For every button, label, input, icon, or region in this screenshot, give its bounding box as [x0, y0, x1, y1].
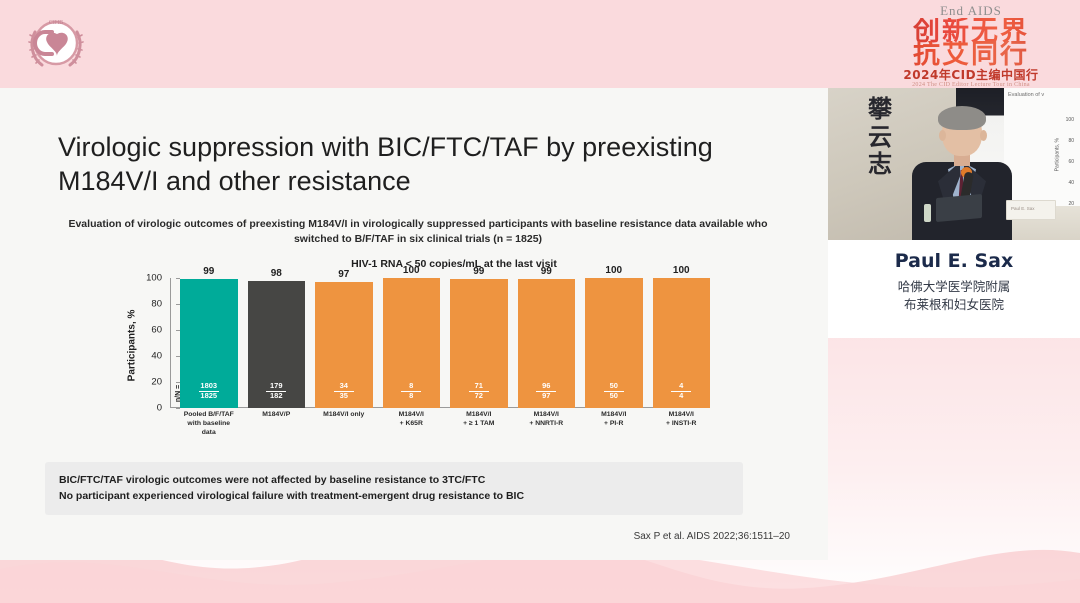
speaker-ear-left — [939, 130, 946, 141]
bar: 44 — [653, 278, 711, 408]
bar-fraction-label: 179182 — [248, 382, 306, 401]
slide-title: Virologic suppression with BIC/FTC/TAF b… — [58, 130, 778, 199]
video-axis-tick-40: 40 — [1068, 180, 1074, 186]
speaker-name: Paul E. Sax — [828, 250, 1080, 272]
bar-fraction-denominator: 50 — [585, 392, 643, 401]
video-nameplate: Paul E. Sax — [1006, 200, 1056, 220]
y-tick-40: 40 — [151, 351, 162, 362]
bar-column: 10088 — [383, 278, 441, 408]
bar: 7172 — [450, 279, 508, 408]
video-screen-text: Evaluation of v — [1008, 92, 1078, 98]
slide-citation: Sax P et al. AIDS 2022;36:1511–20 — [0, 531, 790, 542]
speaker-affiliation-line2: 布莱根和妇女医院 — [828, 296, 1080, 314]
x-axis-label-line: M184V/I — [383, 410, 441, 419]
x-axis-label-line: + PI-R — [585, 419, 643, 428]
bar-value-label: 98 — [248, 268, 306, 279]
bar-fraction-denominator: 182 — [248, 392, 306, 401]
event-brand-chinese-line3: 2024年CID主编中国行 — [876, 69, 1066, 81]
conclusion-callout: BIC/FTC/TAF virologic outcomes were not … — [45, 462, 743, 515]
x-axis-label-line: + NNRTI-R — [518, 419, 576, 428]
video-nameplate-text: Paul E. Sax — [1011, 206, 1035, 211]
bar: 88 — [383, 278, 441, 408]
x-axis-label-line: + K65R — [383, 419, 441, 428]
bar-value-label: 99 — [450, 266, 508, 277]
bar-fraction-denominator: 4 — [653, 392, 711, 401]
video-calligraphy-art: 攀 云 志 — [860, 96, 900, 206]
bar-fraction-label: 44 — [653, 382, 711, 401]
y-tick-60: 60 — [151, 325, 162, 336]
bar: 5050 — [585, 278, 643, 408]
bar-fraction-label: 18031825 — [180, 382, 238, 401]
speaker-affiliation: 哈佛大学医学院附属 布莱根和妇女医院 — [828, 278, 1080, 314]
bar-value-label: 99 — [180, 266, 238, 277]
bar-fraction-label: 9697 — [518, 382, 576, 401]
y-tickmark-0 — [176, 408, 180, 409]
callout-line-1: BIC/FTC/TAF virologic outcomes were not … — [59, 472, 729, 488]
bar-column: 999697 — [518, 278, 576, 408]
bar-value-label: 100 — [383, 265, 441, 276]
bar-value-label: 97 — [315, 269, 373, 280]
bar-column: 10044 — [653, 278, 711, 408]
x-axis-label: M184V/I+ NNRTI-R — [518, 410, 576, 438]
bar-column: 1005050 — [585, 278, 643, 408]
x-axis-label: M184V/I+ ≥ 1 TAM — [450, 410, 508, 438]
slide-subtitle: Evaluation of virologic outcomes of pree… — [60, 217, 776, 247]
bar-fraction-label: 88 — [383, 382, 441, 401]
y-axis-ticks: 020406080100 — [140, 278, 166, 408]
speaker-panel: 攀 云 志 Evaluation of v 100 80 60 40 20 0 … — [828, 88, 1080, 338]
bar-fraction-label: 5050 — [585, 382, 643, 401]
speaker-affiliation-line1: 哈佛大学医学院附属 — [828, 278, 1080, 296]
presentation-slide: Virologic suppression with BIC/FTC/TAF b… — [0, 88, 828, 560]
bar-value-label: 99 — [518, 266, 576, 277]
x-axis-label: Pooled B/F/TAFwith baseline data — [180, 410, 238, 438]
bar: 9697 — [518, 279, 576, 408]
video-axis-tick-60: 60 — [1068, 159, 1074, 165]
bar: 3435 — [315, 282, 373, 408]
video-water-bottle — [924, 204, 931, 222]
y-tick-100: 100 — [146, 273, 162, 284]
x-axis-label-line: M184V/I only — [315, 410, 373, 419]
speaker-ear-right — [980, 130, 987, 141]
y-axis-title: Participants, % — [124, 286, 140, 404]
x-axis-label-line: M184V/I — [450, 410, 508, 419]
bar-column: 997172 — [450, 278, 508, 408]
chart-plot-area: Participants, % 020406080100 n/N = 99180… — [130, 278, 710, 408]
y-tick-20: 20 — [151, 377, 162, 388]
bar-value-label: 100 — [585, 265, 643, 276]
callout-line-2: No participant experienced virological f… — [59, 488, 729, 504]
bar: 179182 — [248, 281, 306, 408]
bar-fraction-denominator: 97 — [518, 392, 576, 401]
bar-column: 9918031825 — [180, 278, 238, 408]
bar-column: 98179182 — [248, 278, 306, 408]
speaker-video-feed[interactable]: 攀 云 志 Evaluation of v 100 80 60 40 20 0 … — [828, 88, 1080, 240]
x-axis-label: M184V/I+ INSTI-R — [653, 410, 711, 438]
x-axis-label: M184V/I+ PI-R — [585, 410, 643, 438]
y-axis-line — [170, 278, 171, 408]
x-axis-label-line: + ≥ 1 TAM — [450, 419, 508, 428]
x-axis-label-line: with baseline data — [180, 419, 238, 437]
x-axis-label-line: M184V/I — [585, 410, 643, 419]
x-axis-label-line: + INSTI-R — [653, 419, 711, 428]
x-axis-label: M184V/I only — [315, 410, 373, 438]
video-axis-tick-100: 100 — [1066, 117, 1074, 123]
bar-fraction-denominator: 72 — [450, 392, 508, 401]
x-axis-labels: Pooled B/F/TAFwith baseline dataM184V/PM… — [180, 410, 710, 438]
bar-fraction-denominator: 8 — [383, 392, 441, 401]
bar-fraction-denominator: 35 — [315, 392, 373, 401]
bar-fraction-denominator: 1825 — [180, 392, 238, 401]
video-axis-tick-80: 80 — [1068, 138, 1074, 144]
x-axis-label: M184V/P — [248, 410, 306, 438]
x-axis-label: M184V/I+ K65R — [383, 410, 441, 438]
x-axis-label-line: M184V/I — [653, 410, 711, 419]
organization-logo-icon: CIHB — [24, 12, 88, 76]
bar-fraction-label: 7172 — [450, 382, 508, 401]
bar-value-label: 100 — [653, 265, 711, 276]
bar-chart: HIV-1 RNA < 50 copies/mL at the last vis… — [130, 258, 710, 438]
event-brand-chinese-line2: 抗艾同行 — [876, 41, 1066, 68]
bar-column: 973435 — [315, 278, 373, 408]
event-branding: End AIDS 创新无界 抗艾同行 2024年CID主编中国行 2024 Th… — [876, 2, 1066, 84]
bar: 18031825 — [180, 279, 238, 408]
y-tick-80: 80 — [151, 299, 162, 310]
video-laptop — [936, 194, 982, 222]
video-axis-label: Participants, % — [1054, 138, 1060, 171]
x-axis-label-line: Pooled B/F/TAF — [180, 410, 238, 419]
x-axis-label-line: M184V/I — [518, 410, 576, 419]
x-axis-label-line: M184V/P — [248, 410, 306, 419]
chart-bars: 9918031825981791829734351008899717299969… — [180, 278, 710, 408]
speaker-hair — [938, 106, 986, 130]
y-tick-0: 0 — [157, 403, 162, 414]
svg-text:CIHB: CIHB — [49, 20, 63, 26]
bar-fraction-label: 3435 — [315, 382, 373, 401]
y-axis-title-text: Participants, % — [127, 309, 138, 381]
